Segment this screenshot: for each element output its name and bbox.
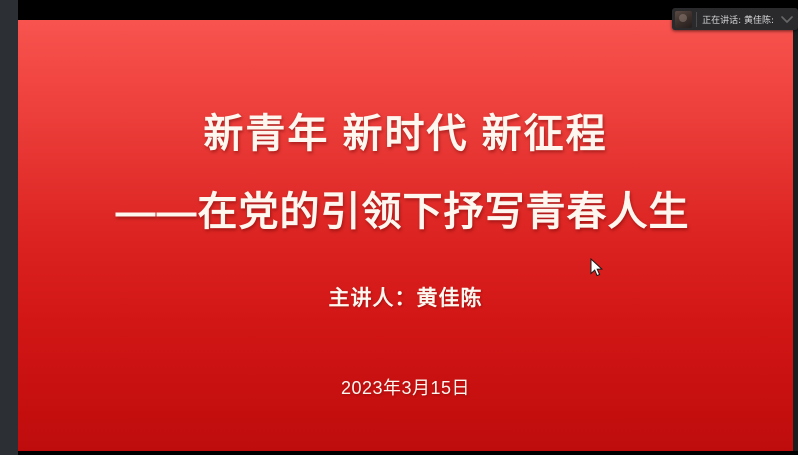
slide-title-subtitle: ——在党的引领下抒写青春人生 [116,190,690,234]
presentation-slide[interactable]: 新青年 新时代 新征程 ——在党的引领下抒写青春人生 主讲人：黄佳陈 2023年… [18,20,793,451]
chevron-more-icon[interactable] [780,12,794,26]
slide-content: 新青年 新时代 新征程 ——在党的引领下抒写青春人生 主讲人：黄佳陈 2023年… [18,20,793,451]
active-speaker-label: 正在讲话: 黄佳陈: [702,13,774,26]
slide-title-main: 新青年 新时代 新征程 [203,112,607,156]
badge-divider [696,12,697,27]
person-thumbnail-icon [675,11,692,28]
active-speaker-badge[interactable]: 正在讲话: 黄佳陈: [672,8,798,30]
window-bottom-letterbox [0,451,798,455]
slide-date: 2023年3月15日 [341,374,470,400]
slide-presenter: 主讲人：黄佳陈 [329,282,483,312]
window-left-sidebar-bar [0,0,18,455]
window-right-edge-bar [793,20,798,451]
screen-capture-window: 新青年 新时代 新征程 ——在党的引领下抒写青春人生 主讲人：黄佳陈 2023年… [0,0,798,455]
